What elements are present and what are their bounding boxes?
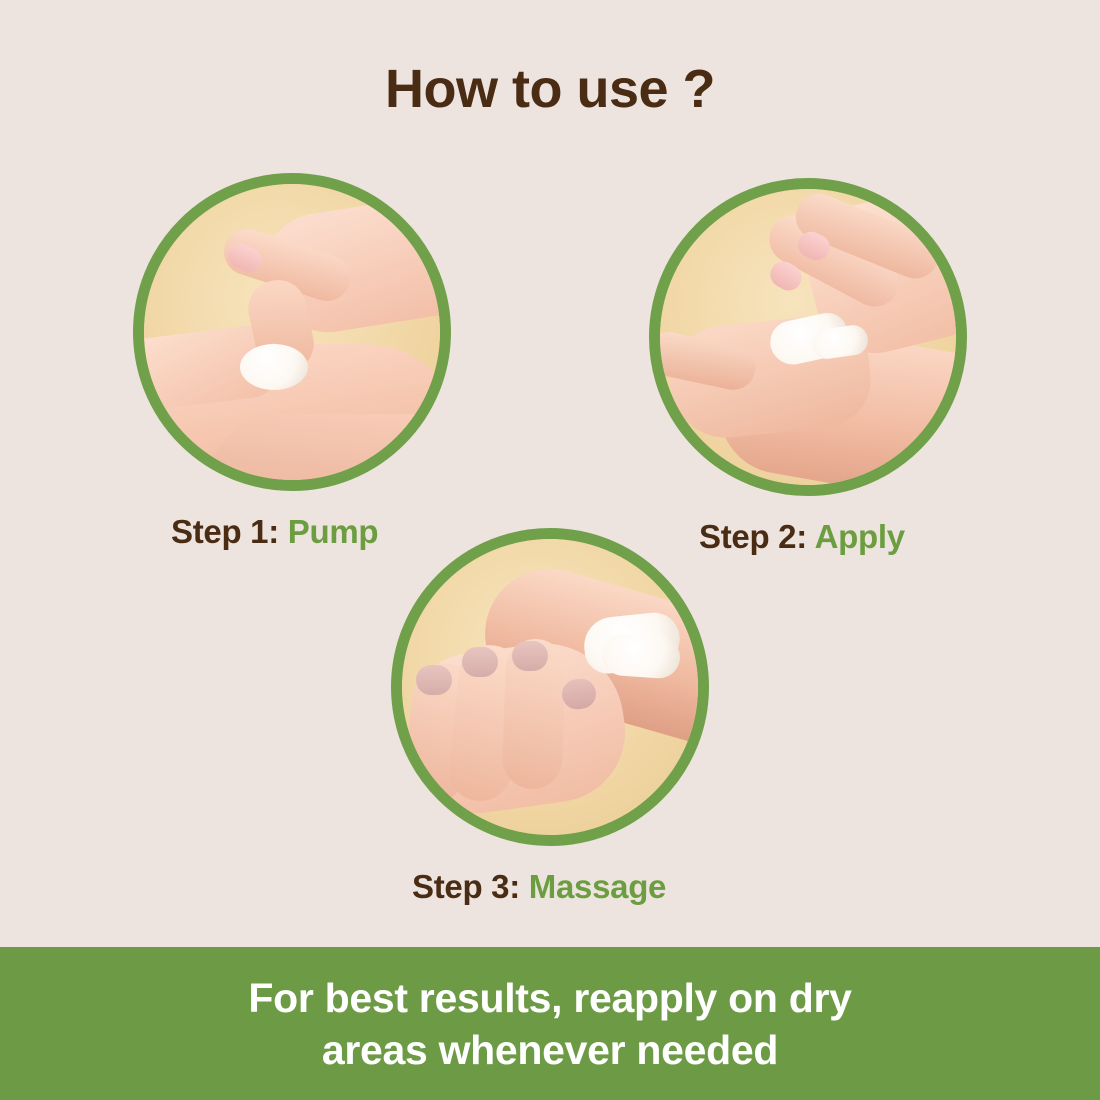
step-2-photo: [660, 189, 956, 485]
cream-swirl-2: [601, 632, 682, 679]
step-2-number: Step 2:: [699, 518, 807, 555]
step-3-number: Step 3:: [412, 868, 520, 905]
step-2-block: Step 2: Apply: [649, 178, 967, 496]
step-3-photo: [402, 539, 698, 835]
step-3-action: Massage: [529, 868, 666, 905]
step-3-block: Step 3: Massage: [391, 528, 709, 846]
page-title: How to use ?: [0, 58, 1100, 120]
step-2-action: Apply: [815, 518, 905, 555]
cream-dollop: [240, 344, 308, 390]
massage-nail-2: [462, 647, 498, 677]
banner-line-2: areas whenever needed: [322, 1024, 778, 1076]
step-1-block: Step 1: Pump: [133, 173, 451, 491]
step-1-action: Pump: [288, 513, 378, 550]
step-1-number: Step 1:: [171, 513, 279, 550]
how-to-use-infographic: How to use ? Step 1: Pump: [0, 0, 1100, 1100]
step-3-label: Step 3: Massage: [412, 868, 730, 906]
step-2-circle: [649, 178, 967, 496]
step-2-label: Step 2: Apply: [699, 518, 1017, 556]
massage-nail-1: [416, 665, 452, 695]
step-3-circle: [391, 528, 709, 846]
massage-nail-3: [512, 641, 548, 671]
step-1-circle: [133, 173, 451, 491]
bottom-banner: For best results, reapply on dry areas w…: [0, 947, 1100, 1100]
step-1-photo: [144, 184, 440, 480]
banner-line-1: For best results, reapply on dry: [248, 972, 851, 1024]
